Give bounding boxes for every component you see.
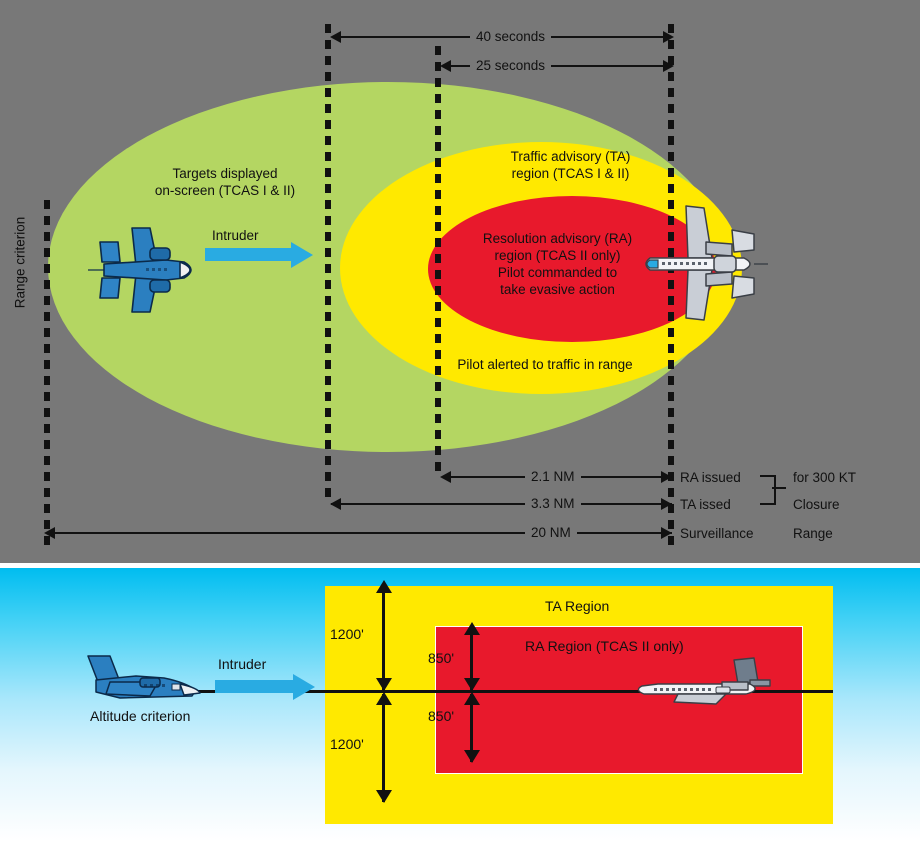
intruder-arrow-head	[291, 242, 313, 268]
dim-850-lower-arrow-bottom	[464, 750, 480, 763]
dim-1200-upper-arrow-bottom	[376, 678, 392, 691]
dashed-line-20nm	[44, 200, 50, 548]
dim-40s-arrow-right	[663, 31, 674, 43]
intruder-label-profile: Intruder	[218, 656, 266, 672]
dim-25s-arrow-left	[440, 60, 451, 72]
closure-note-line2: Closure	[793, 496, 840, 513]
dim-3p3nm-label: 3.3 NM	[525, 496, 581, 511]
surveillance-range-label: Range	[793, 525, 833, 542]
dim-850-upper-label: 850'	[428, 650, 454, 666]
dim-1200-upper-label: 1200'	[330, 626, 364, 642]
closure-bracket-stem	[772, 487, 786, 489]
dim-2p1nm-arrow-left	[440, 471, 451, 483]
dim-850-upper-arrow-top	[464, 622, 480, 635]
plan-view-panel: 40 seconds 25 seconds Targets displayed …	[0, 0, 920, 563]
dim-1200-lower-line	[382, 694, 385, 802]
event-surveillance: Surveillance	[680, 525, 754, 542]
intruder-label-plan: Intruder	[212, 227, 259, 244]
ra-region-label: RA Region (TCAS II only)	[525, 638, 684, 654]
dim-1200-lower-arrow-bottom	[376, 790, 392, 803]
dim-1200-upper-arrow-top	[376, 580, 392, 593]
event-ta-issued: TA issed	[680, 496, 731, 513]
ta-region-label: TA Region	[545, 598, 609, 614]
dim-1200-lower-arrow-top	[376, 692, 392, 705]
event-ra-issued: RA issued	[680, 469, 741, 486]
dim-850-lower-label: 850'	[428, 708, 454, 724]
intruder-arrow-head-profile	[293, 674, 315, 700]
dim-20nm-label: 20 NM	[525, 525, 577, 540]
dim-40s-arrow-left	[330, 31, 341, 43]
dim-3p3nm-arrow-right	[661, 498, 672, 510]
range-criterion-label: Range criterion	[13, 203, 28, 323]
dim-20nm-arrow-left	[44, 527, 55, 539]
dim-20nm-line	[50, 532, 672, 534]
dim-3p3nm-arrow-left	[330, 498, 341, 510]
dim-850-upper-arrow-bottom	[464, 678, 480, 691]
dim-25s-arrow-right	[663, 60, 674, 72]
dim-25s-label: 25 seconds	[470, 58, 551, 73]
dim-1200-lower-label: 1200'	[330, 736, 364, 752]
dim-20nm-arrow-right	[661, 527, 672, 539]
dim-3p3nm-line	[331, 503, 672, 505]
yellow-zone-label: Traffic advisory (TA) region (TCAS I & I…	[468, 148, 673, 182]
intruder-aircraft-plan	[88, 220, 208, 320]
intruder-arrow-shaft	[205, 248, 293, 261]
dim-2p1nm-arrow-right	[661, 471, 672, 483]
own-aircraft-plan	[628, 200, 768, 328]
altitude-criterion-label: Altitude criterion	[90, 708, 190, 724]
own-aircraft-profile	[630, 656, 770, 716]
tcas-diagram: 40 seconds 25 seconds Targets displayed …	[0, 0, 920, 841]
yellow-bottom-label: Pilot alerted to traffic in range	[400, 356, 690, 373]
dashed-line-2p1nm	[435, 46, 441, 478]
intruder-arrow-shaft-profile	[215, 680, 295, 693]
closure-bracket	[760, 475, 776, 505]
closure-note-line1: for 300 KT	[793, 469, 856, 486]
dim-1200-upper-line	[382, 590, 385, 690]
dashed-line-3p3nm	[325, 24, 331, 500]
dim-850-lower-arrow-top	[464, 692, 480, 705]
profile-view-panel: TA Region RA Region (TCAS II only) 1200'…	[0, 568, 920, 841]
dim-2p1nm-label: 2.1 NM	[525, 469, 581, 484]
dim-40s-label: 40 seconds	[470, 29, 551, 44]
green-zone-label: Targets displayed on-screen (TCAS I & II…	[110, 165, 340, 199]
